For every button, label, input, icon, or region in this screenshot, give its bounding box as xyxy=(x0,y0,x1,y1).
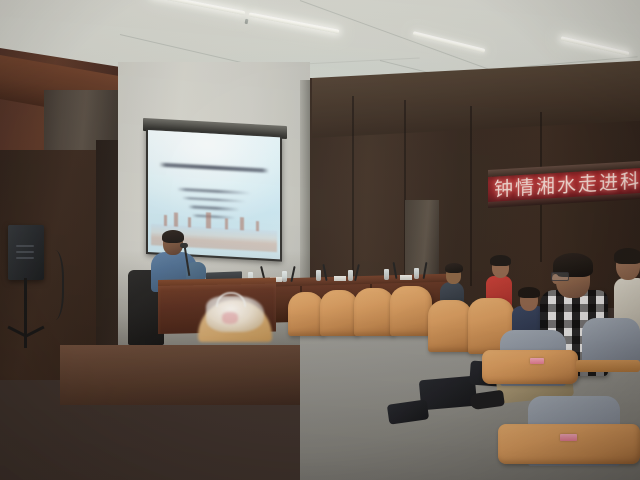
speaker-grille xyxy=(16,245,34,247)
water-bottle xyxy=(384,269,389,280)
water-bottle xyxy=(348,270,353,281)
audience-hair xyxy=(445,263,463,273)
wall-seam xyxy=(352,96,354,296)
audience-hair xyxy=(614,248,640,264)
screen-glow xyxy=(148,130,280,229)
glasses xyxy=(551,272,569,281)
audience-hair xyxy=(518,287,540,298)
city-building xyxy=(256,221,259,231)
microphone-head xyxy=(180,243,188,248)
conference-hall-photo: 钟情湘水走进科 xyxy=(0,0,640,480)
speaker-grille xyxy=(16,257,34,259)
city-building xyxy=(174,212,178,227)
audience-hair xyxy=(490,255,511,266)
presenter-hair xyxy=(162,230,184,243)
city-building xyxy=(206,213,211,229)
water-bottle xyxy=(282,271,287,282)
water-bottle xyxy=(316,270,321,281)
foreground-seat-row xyxy=(0,300,640,480)
speaker-grille xyxy=(16,251,34,253)
nameplate xyxy=(334,276,346,281)
wall-seam xyxy=(470,106,472,286)
city-building xyxy=(188,218,191,228)
water-bottle xyxy=(414,268,419,279)
city-building xyxy=(240,217,244,231)
city-building xyxy=(225,218,228,229)
nameplate xyxy=(400,275,412,280)
city-building xyxy=(164,215,167,226)
